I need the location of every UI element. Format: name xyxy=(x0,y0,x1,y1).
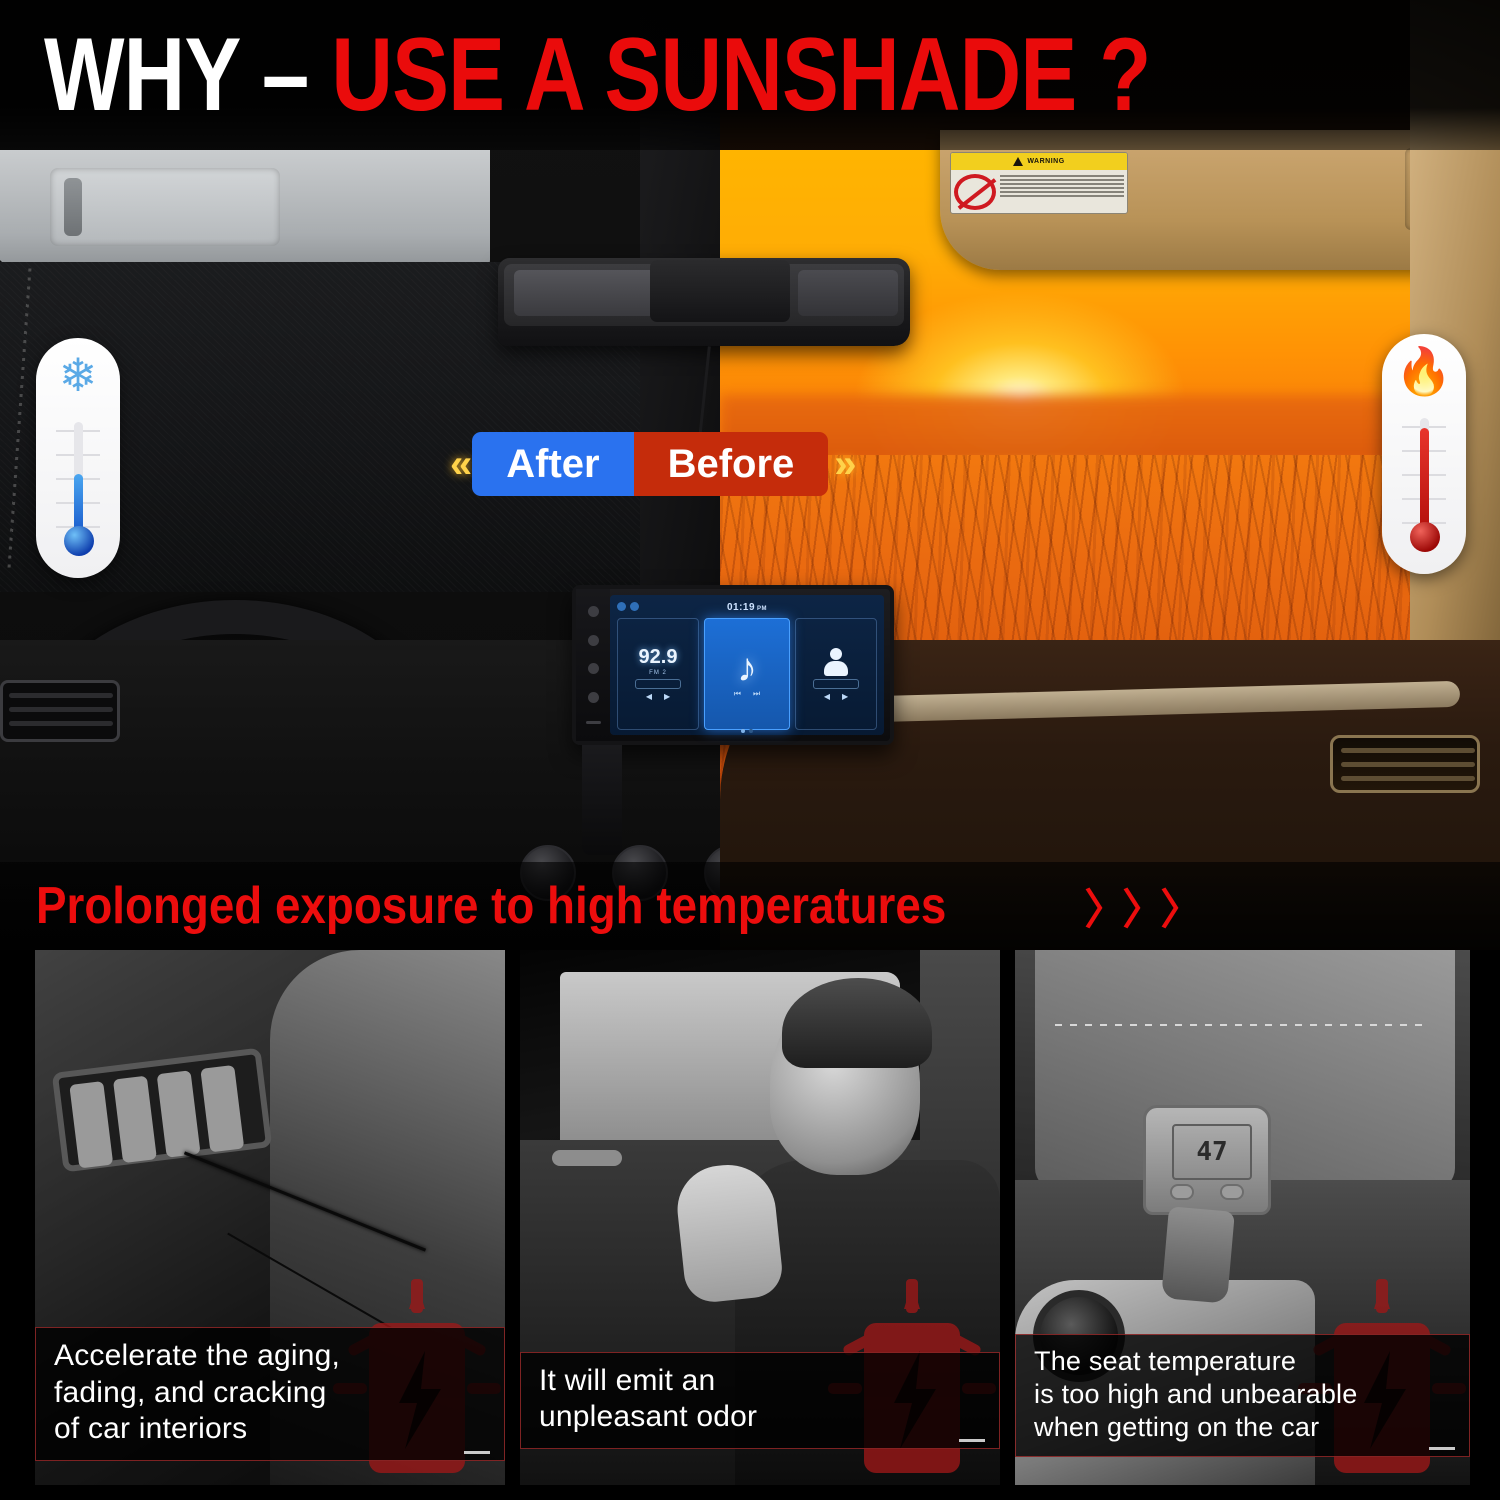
radio-transport-controls[interactable]: ◀ ▶ xyxy=(646,692,670,701)
menu-button-icon[interactable] xyxy=(588,692,599,703)
power-button-icon[interactable] xyxy=(588,606,599,617)
eject-button-icon[interactable] xyxy=(586,721,601,724)
radio-next-icon[interactable]: ▶ xyxy=(664,692,670,701)
caption-underscore xyxy=(959,1439,985,1442)
thermometer-gun-body: 47 xyxy=(1143,1105,1271,1215)
panel-dashboard-cracking: Accelerate the aging, fading, and cracki… xyxy=(35,950,505,1485)
flame-icon: 🔥 xyxy=(1382,348,1466,394)
mirror-reflection-seats xyxy=(514,270,664,316)
warning-label-body xyxy=(951,170,1127,213)
panel-caption: It will emit an unpleasant odor xyxy=(520,1352,1000,1449)
caption-line: Accelerate the aging, xyxy=(54,1338,490,1375)
media-transport-controls[interactable]: ⏮ ⏭ xyxy=(734,689,760,699)
after-badge[interactable]: After xyxy=(472,432,633,496)
warning-heading: WARNING xyxy=(1027,158,1064,165)
warning-triangle-icon xyxy=(1013,157,1023,166)
sun-visor-shaded xyxy=(0,150,490,270)
thermometer-bulb xyxy=(1410,522,1440,552)
left-chevron-icon: « xyxy=(444,442,472,487)
profile-tile[interactable]: ◀ ▶ xyxy=(795,618,877,730)
media-forward-icon[interactable]: ⏭ xyxy=(753,689,760,699)
profile-arrows[interactable]: ◀ ▶ xyxy=(824,692,848,701)
door-handle xyxy=(552,1150,622,1166)
dashcam-module xyxy=(650,260,790,322)
warning-label-header: WARNING xyxy=(951,153,1127,170)
mid-banner-chevron-icon: 〉〉〉 xyxy=(1084,876,1198,937)
caption-line: of car interiors xyxy=(54,1411,490,1448)
page-indicator-dots xyxy=(741,729,753,733)
status-icons xyxy=(617,602,639,611)
hot-thermometer: 🔥 xyxy=(1382,334,1466,574)
music-note-icon: ♪ xyxy=(737,650,757,686)
air-vent-right xyxy=(1330,735,1480,793)
right-chevron-icon: » xyxy=(828,442,856,487)
head-unit-mount xyxy=(582,745,622,855)
thermometer-bulb xyxy=(64,526,94,556)
head-unit-clock: 01:19PM xyxy=(727,602,767,613)
head-unit-status-bar: 01:19PM xyxy=(617,600,877,615)
radio-band: FM 2 xyxy=(649,670,667,676)
head-unit-screen[interactable]: 01:19PM 92.9 FM 2 ◀ ▶ ♪ xyxy=(610,595,884,735)
infographic-page: WARNING xyxy=(0,0,1500,1500)
air-vent-left xyxy=(0,680,120,742)
warning-text-lines xyxy=(1000,172,1124,211)
caption-underscore xyxy=(1429,1447,1455,1450)
airbag-warning-label: WARNING xyxy=(950,152,1128,214)
visor-pocket xyxy=(50,168,280,246)
page-title: WHY – USE A SUNSHADE ? xyxy=(44,23,1151,127)
caption-line: It will emit an xyxy=(539,1363,985,1400)
measured-temperature-value: 47 xyxy=(1196,1139,1227,1165)
home-button-icon[interactable] xyxy=(588,635,599,646)
panel-unpleasant-odor: It will emit an unpleasant odor xyxy=(520,950,1000,1485)
title-red-part: USE A SUNSHADE ? xyxy=(331,17,1150,133)
head-unit-side-buttons[interactable] xyxy=(576,589,610,741)
media-rewind-icon[interactable]: ⏮ xyxy=(734,689,741,699)
caption-line: The seat temperature xyxy=(1034,1345,1455,1378)
caption-line: unpleasant odor xyxy=(539,1399,985,1436)
caption-line: is too high and unbearable xyxy=(1034,1378,1455,1411)
caption-line: fading, and cracking xyxy=(54,1375,490,1412)
thermometer-gun-button[interactable] xyxy=(1220,1184,1244,1200)
title-white-word: WHY xyxy=(44,17,239,133)
profile-next-icon[interactable]: ▶ xyxy=(842,692,848,701)
thermometer-gun-display: 47 xyxy=(1172,1124,1252,1180)
radio-frequency: 92.9 xyxy=(639,647,678,667)
snowflake-icon: ❄ xyxy=(36,352,120,398)
radio-prev-icon[interactable]: ◀ xyxy=(646,692,652,701)
radio-preset-pill[interactable] xyxy=(635,679,681,689)
mid-banner-text: Prolonged exposure to high temperatures xyxy=(36,876,946,936)
benefit-panels: Accelerate the aging, fading, and cracki… xyxy=(0,950,1500,1500)
mirror-reflection-right xyxy=(798,270,898,316)
volume-button-icon[interactable] xyxy=(588,663,599,674)
thermometer-gun-button[interactable] xyxy=(1170,1184,1194,1200)
thermometer-gun-grip xyxy=(1161,1206,1235,1303)
panel-caption: Accelerate the aging, fading, and cracki… xyxy=(35,1327,505,1461)
media-tile[interactable]: ♪ ⏮ ⏭ xyxy=(704,618,790,730)
title-dash: – xyxy=(262,17,309,133)
no-rear-facing-seat-icon xyxy=(954,174,996,210)
title-bar: WHY – USE A SUNSHADE ? xyxy=(0,0,1500,150)
radio-tile[interactable]: 92.9 FM 2 ◀ ▶ xyxy=(617,618,699,730)
cold-thermometer: ❄ xyxy=(36,338,120,578)
profile-pill[interactable] xyxy=(813,679,859,689)
head-unit-tiles: 92.9 FM 2 ◀ ▶ ♪ ⏮ ⏭ xyxy=(617,618,877,730)
person-icon xyxy=(823,648,849,676)
rearview-mirror-dashcam xyxy=(498,258,910,346)
caption-line: when getting on the car xyxy=(1034,1411,1455,1444)
caption-underscore xyxy=(464,1451,490,1454)
panel-caption: The seat temperature is too high and unb… xyxy=(1015,1334,1470,1457)
before-after-toggle[interactable]: « After Before » xyxy=(444,432,857,496)
before-badge[interactable]: Before xyxy=(634,432,829,496)
panel-seat-temperature: 47 The se xyxy=(1015,950,1470,1485)
sun-visor-bright: WARNING xyxy=(940,130,1460,270)
infrared-thermometer-gun: 47 xyxy=(1143,1105,1271,1295)
mid-banner: Prolonged exposure to high temperatures … xyxy=(0,862,1500,950)
infotainment-head-unit[interactable]: 01:19PM 92.9 FM 2 ◀ ▶ ♪ xyxy=(572,585,894,745)
profile-prev-icon[interactable]: ◀ xyxy=(824,692,830,701)
thermometer-mercury xyxy=(1420,428,1429,536)
seat-stitching xyxy=(1055,1024,1425,1026)
